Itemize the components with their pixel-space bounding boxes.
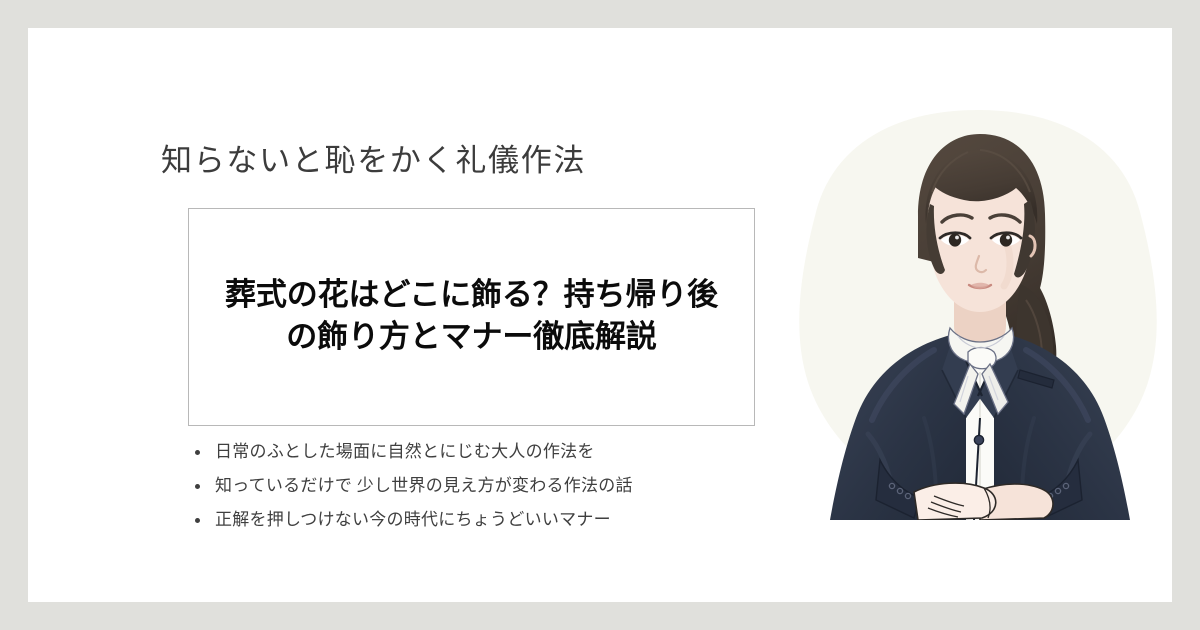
list-item: 正解を押しつけない今の時代にちょうどいいマナー (188, 511, 748, 528)
poster-frame: 知らないと恥をかく礼儀作法 葬式の花はどこに飾る？持ち帰り後の飾り方とマナー徹底… (0, 0, 1200, 630)
list-item: 知っているだけで 少し世界の見え方が変わる作法の話 (188, 477, 748, 494)
business-woman-illustration (768, 88, 1172, 548)
page-title: 葬式の花はどこに飾る？持ち帰り後の飾り方とマナー徹底解説 (214, 275, 730, 358)
illustration-container (768, 88, 1172, 548)
page-eyebrow: 知らないと恥をかく礼儀作法 (161, 135, 586, 180)
list-item: 日常のふとした場面に自然とにじむ大人の作法を (188, 443, 748, 460)
bullet-list: 日常のふとした場面に自然とにじむ大人の作法を 知っているだけで 少し世界の見え方… (188, 443, 748, 545)
title-box: 葬式の花はどこに飾る？持ち帰り後の飾り方とマナー徹底解説 (188, 208, 755, 426)
poster-card: 知らないと恥をかく礼儀作法 葬式の花はどこに飾る？持ち帰り後の飾り方とマナー徹底… (28, 28, 1172, 602)
